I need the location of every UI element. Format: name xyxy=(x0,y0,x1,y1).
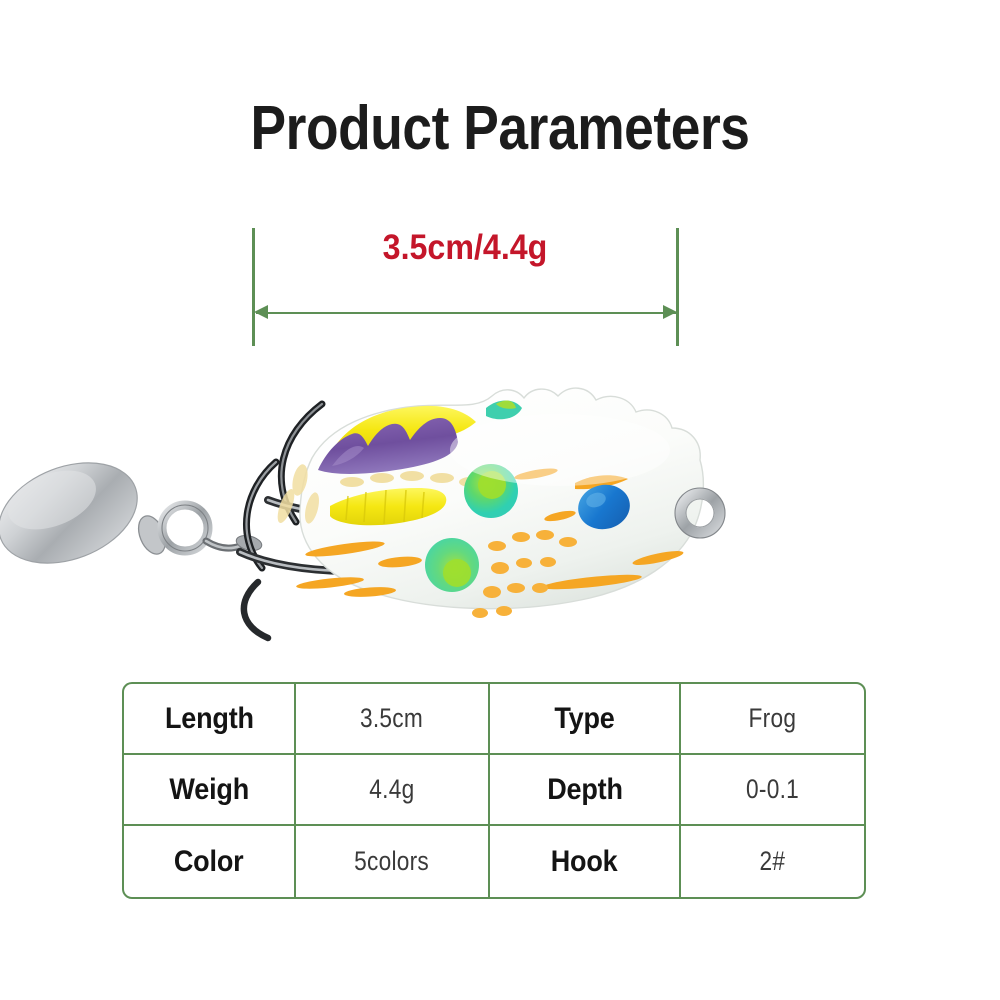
spec-value-cell: 0-0.1 xyxy=(681,755,864,826)
spec-label-weigh: Weigh xyxy=(169,773,249,807)
spec-label-cell: Color xyxy=(124,826,296,897)
spec-value-hook: 2# xyxy=(760,846,786,877)
spec-value-cell: 3.5cm xyxy=(296,684,490,755)
dimension-tick-right xyxy=(676,228,679,346)
table-row: Length 3.5cm Type Frog xyxy=(124,684,864,755)
spec-label-length: Length xyxy=(165,702,254,736)
spec-label-cell: Hook xyxy=(490,826,681,897)
page-title: Product Parameters xyxy=(70,96,930,161)
dimension-arrow-line xyxy=(256,312,676,314)
table-row: Color 5colors Hook 2# xyxy=(124,826,864,897)
arrow-left-icon xyxy=(254,305,268,319)
spec-value-cell: 4.4g xyxy=(296,755,490,826)
spec-label-hook: Hook xyxy=(551,845,618,879)
spec-value-cell: 5colors xyxy=(296,826,490,897)
dimension-label: 3.5cm/4.4g xyxy=(269,228,661,268)
table-row: Weigh 4.4g Depth 0-0.1 xyxy=(124,755,864,826)
spec-value-cell: Frog xyxy=(681,684,864,755)
spec-table: Length 3.5cm Type Frog Weigh 4.4g Depth … xyxy=(122,682,866,899)
spinner-blade-icon xyxy=(0,444,152,581)
product-photo xyxy=(0,330,1000,650)
arrow-right-icon xyxy=(663,305,677,319)
spec-value-cell: 2# xyxy=(681,826,864,897)
spec-value-type: Frog xyxy=(749,703,797,734)
spec-label-depth: Depth xyxy=(547,773,623,807)
spec-label-cell: Type xyxy=(490,684,681,755)
spec-value-weigh: 4.4g xyxy=(369,774,414,805)
spec-value-depth: 0-0.1 xyxy=(746,774,799,805)
spec-label-cell: Depth xyxy=(490,755,681,826)
spec-value-color: 5colors xyxy=(355,846,430,877)
spec-label-type: Type xyxy=(554,702,614,736)
spec-label-cell: Length xyxy=(124,684,296,755)
dimension-tick-left xyxy=(252,228,255,346)
spec-label-color: Color xyxy=(174,845,244,879)
spec-value-length: 3.5cm xyxy=(360,703,423,734)
spec-label-cell: Weigh xyxy=(124,755,296,826)
lure-body xyxy=(274,388,703,618)
